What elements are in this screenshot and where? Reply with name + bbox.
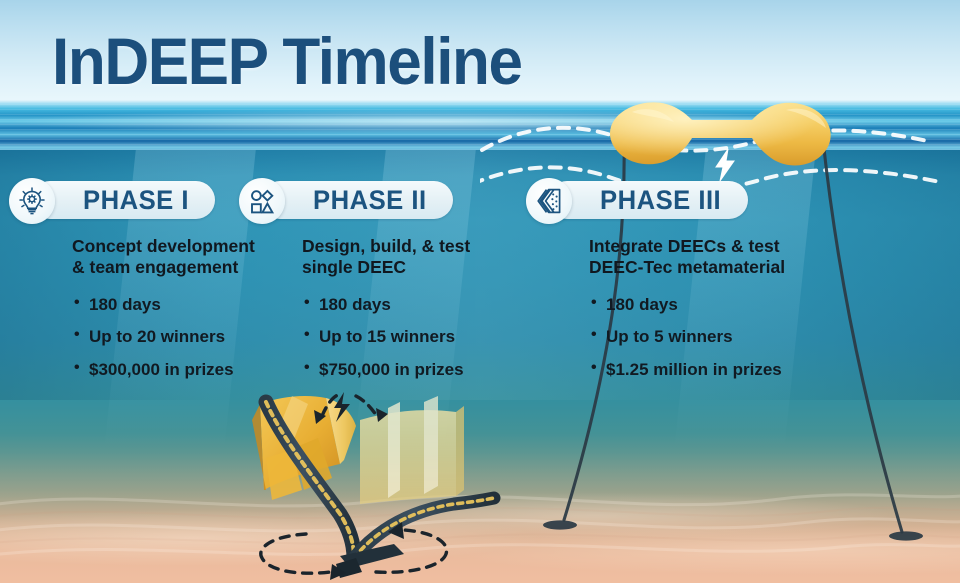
phase-label-2: PHASE II	[313, 185, 427, 216]
list-item: $1.25 million in prizes	[589, 354, 907, 387]
phase-icon-badge-3	[526, 178, 572, 224]
infographic-poster: InDEEP Timeline PHASE I	[0, 0, 960, 583]
list-item: Up to 5 winners	[589, 321, 907, 354]
phase-pill-3[interactable]: PHASE III	[548, 181, 748, 219]
list-item: $300,000 in prizes	[72, 354, 292, 387]
subtitle-line: DEEC-Tec metamaterial	[589, 257, 785, 277]
subtitle-line: single DEEC	[302, 257, 406, 277]
subtitle-line: & team engagement	[72, 257, 238, 277]
phase-pill-2[interactable]: PHASE II	[261, 181, 453, 219]
sand-ripple-texture	[0, 443, 960, 583]
phase-header-3[interactable]: PHASE III	[526, 178, 907, 224]
phase-subtitle-2: Design, build, & test single DEEC	[302, 236, 577, 278]
subtitle-line: Concept development	[72, 236, 255, 256]
list-item: $750,000 in prizes	[302, 354, 577, 387]
page-title: InDEEP Timeline	[52, 28, 522, 94]
phase-bullets-3: 180 days Up to 5 winners $1.25 million i…	[589, 289, 907, 387]
water-surface-glint	[0, 108, 960, 142]
phase-columns: PHASE I	[0, 178, 960, 408]
phase-bullets-1: 180 days Up to 20 winners $300,000 in pr…	[72, 289, 292, 387]
lightbulb-gear-icon	[17, 186, 47, 216]
list-item: 180 days	[589, 289, 907, 322]
phase-pill-1[interactable]: PHASE I	[31, 181, 215, 219]
list-item: 180 days	[72, 289, 292, 322]
list-item: 180 days	[302, 289, 577, 322]
subtitle-line: Integrate DEECs & test	[589, 236, 780, 256]
phase-subtitle-1: Concept development & team engagement	[72, 236, 292, 278]
phase-icon-badge-1	[9, 178, 55, 224]
phase-column-3: PHASE III	[577, 178, 907, 408]
subtitle-line: Design, build, & test	[302, 236, 470, 256]
list-item: Up to 15 winners	[302, 321, 577, 354]
list-item: Up to 20 winners	[72, 321, 292, 354]
phase-subtitle-3: Integrate DEECs & test DEEC-Tec metamate…	[589, 236, 869, 278]
phase-bullets-2: 180 days Up to 15 winners $750,000 in pr…	[302, 289, 577, 387]
phase-icon-badge-2	[239, 178, 285, 224]
phase-label-3: PHASE III	[600, 185, 721, 216]
shapes-icon	[248, 187, 276, 215]
phase-label-1: PHASE I	[83, 185, 189, 216]
layered-metamaterial-icon	[534, 186, 564, 216]
